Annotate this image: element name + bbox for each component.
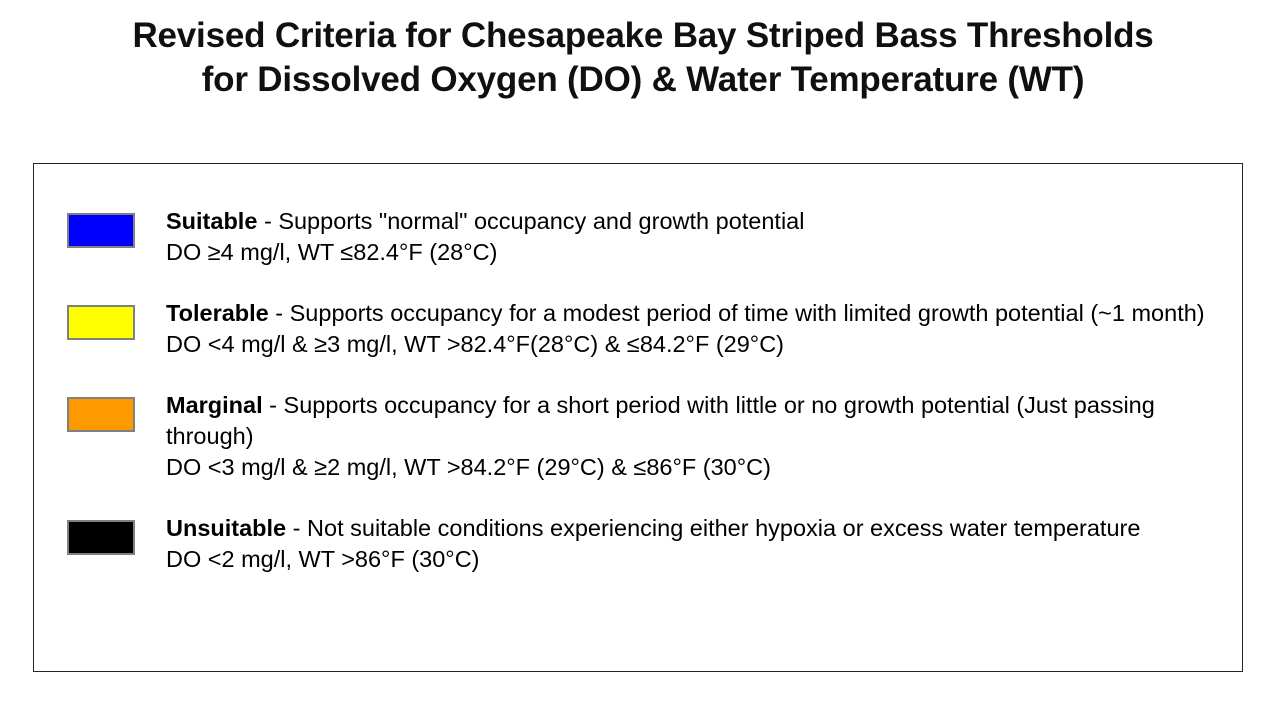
legend-item-text: Tolerable - Supports occupancy for a mod… [166,298,1226,360]
legend-item-criteria: DO <4 mg/l & ≥3 mg/l, WT >82.4°F(28°C) &… [166,329,1226,360]
legend-item-term: Suitable [166,208,257,234]
legend-item-description: Marginal - Supports occupancy for a shor… [166,390,1226,452]
legend-item-description: Suitable - Supports "normal" occupancy a… [166,206,1226,237]
legend-item-criteria: DO <3 mg/l & ≥2 mg/l, WT >84.2°F (29°C) … [166,452,1226,483]
legend-item: Suitable - Supports "normal" occupancy a… [67,206,1227,268]
legend-item-term: Tolerable [166,300,269,326]
legend-item-description-text: Supports occupancy for a modest period o… [290,300,1205,326]
legend-item-separator: - [269,300,290,326]
orange-swatch [67,397,135,432]
legend-item-description: Tolerable - Supports occupancy for a mod… [166,298,1226,329]
legend-item-term: Marginal [166,392,263,418]
legend-item-text: Suitable - Supports "normal" occupancy a… [166,206,1226,268]
legend-item-description: Unsuitable - Not suitable conditions exp… [166,513,1226,544]
slide-canvas: Revised Criteria for Chesapeake Bay Stri… [0,0,1286,716]
legend-item-description-text: Supports "normal" occupancy and growth p… [278,208,804,234]
legend-item-description-text: Supports occupancy for a short period wi… [166,392,1155,449]
page-title-line-1: Revised Criteria for Chesapeake Bay Stri… [0,14,1286,58]
legend-item-separator: - [257,208,278,234]
black-swatch [67,520,135,555]
legend-item: Marginal - Supports occupancy for a shor… [67,390,1227,483]
legend-item-description-text: Not suitable conditions experiencing eit… [307,515,1140,541]
legend-item-separator: - [286,515,307,541]
yellow-swatch [67,305,135,340]
page-title-line-2: for Dissolved Oxygen (DO) & Water Temper… [0,58,1286,102]
legend-item-text: Marginal - Supports occupancy for a shor… [166,390,1226,483]
legend-item-criteria: DO <2 mg/l, WT >86°F (30°C) [166,544,1226,575]
legend-item-separator: - [263,392,284,418]
blue-swatch [67,213,135,248]
legend-item-term: Unsuitable [166,515,286,541]
legend-item-text: Unsuitable - Not suitable conditions exp… [166,513,1226,575]
legend-item: Tolerable - Supports occupancy for a mod… [67,298,1227,360]
legend-panel: Suitable - Supports "normal" occupancy a… [33,163,1243,672]
legend-item-criteria: DO ≥4 mg/l, WT ≤82.4°F (28°C) [166,237,1226,268]
page-title: Revised Criteria for Chesapeake Bay Stri… [0,14,1286,102]
legend-item: Unsuitable - Not suitable conditions exp… [67,513,1227,575]
legend-list: Suitable - Supports "normal" occupancy a… [67,206,1227,575]
